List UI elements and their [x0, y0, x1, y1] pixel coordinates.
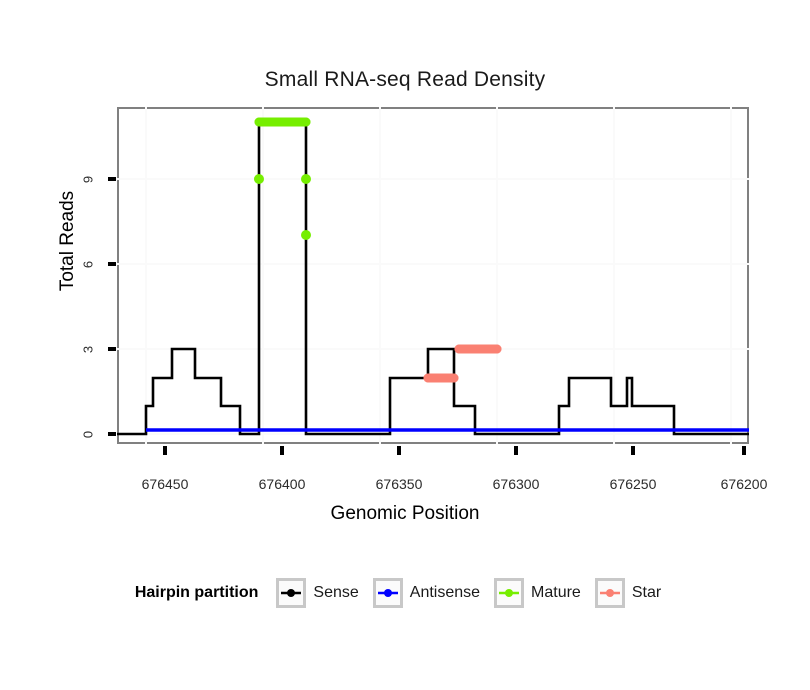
legend-label-mature: Mature	[531, 584, 581, 602]
y-tickmark-6	[108, 262, 116, 266]
y-tickmark-9	[108, 177, 116, 181]
y-tick-label-0: 0	[81, 420, 96, 450]
antisense-line-icon	[377, 586, 399, 600]
chart-figure: Small RNA-seq Read Density Total Reads 9…	[0, 0, 810, 690]
x-tickmark-676250	[631, 446, 635, 455]
mature-line-icon	[498, 586, 520, 600]
sense-line-icon	[280, 586, 302, 600]
y-axis-title: Total Reads	[57, 161, 79, 321]
legend-key-sense	[276, 578, 306, 608]
x-tick-label-676450: 676450	[120, 476, 210, 492]
chart-title: Small RNA-seq Read Density	[0, 68, 810, 92]
x-tickmark-676450	[163, 446, 167, 455]
legend-label-star: Star	[632, 584, 661, 602]
legend-label-sense: Sense	[313, 584, 358, 602]
y-tickmark-3	[108, 347, 116, 351]
x-tickmark-676200	[742, 446, 746, 455]
legend-key-antisense	[373, 578, 403, 608]
chart-legend: Hairpin partition Sense Antisense	[0, 578, 810, 608]
y-tick-label-6: 6	[81, 250, 96, 280]
legend-entry-antisense[interactable]: Antisense	[373, 578, 480, 608]
legend-label-antisense: Antisense	[410, 584, 480, 602]
legend-entry-mature[interactable]: Mature	[494, 578, 581, 608]
x-axis-title: Genomic Position	[0, 503, 810, 525]
legend-key-mature	[494, 578, 524, 608]
x-tick-label-676350: 676350	[354, 476, 444, 492]
x-tick-label-676400: 676400	[237, 476, 327, 492]
legend-entry-sense[interactable]: Sense	[276, 578, 358, 608]
legend-entry-star[interactable]: Star	[595, 578, 661, 608]
star-line-icon	[599, 586, 621, 600]
x-tickmark-676350	[397, 446, 401, 455]
y-tick-label-3: 3	[81, 335, 96, 365]
x-tick-label-676250: 676250	[588, 476, 678, 492]
legend-key-star	[595, 578, 625, 608]
plot-area	[117, 107, 749, 444]
y-tickmark-0	[108, 432, 116, 436]
legend-title: Hairpin partition	[135, 584, 259, 602]
x-tick-label-676300: 676300	[471, 476, 561, 492]
x-tick-label-676200: 676200	[699, 476, 789, 492]
x-tickmark-676400	[280, 446, 284, 455]
gridlines	[117, 107, 749, 444]
series-sense-line	[117, 122, 749, 434]
y-tick-label-9: 9	[81, 165, 96, 195]
x-tickmark-676300	[514, 446, 518, 455]
